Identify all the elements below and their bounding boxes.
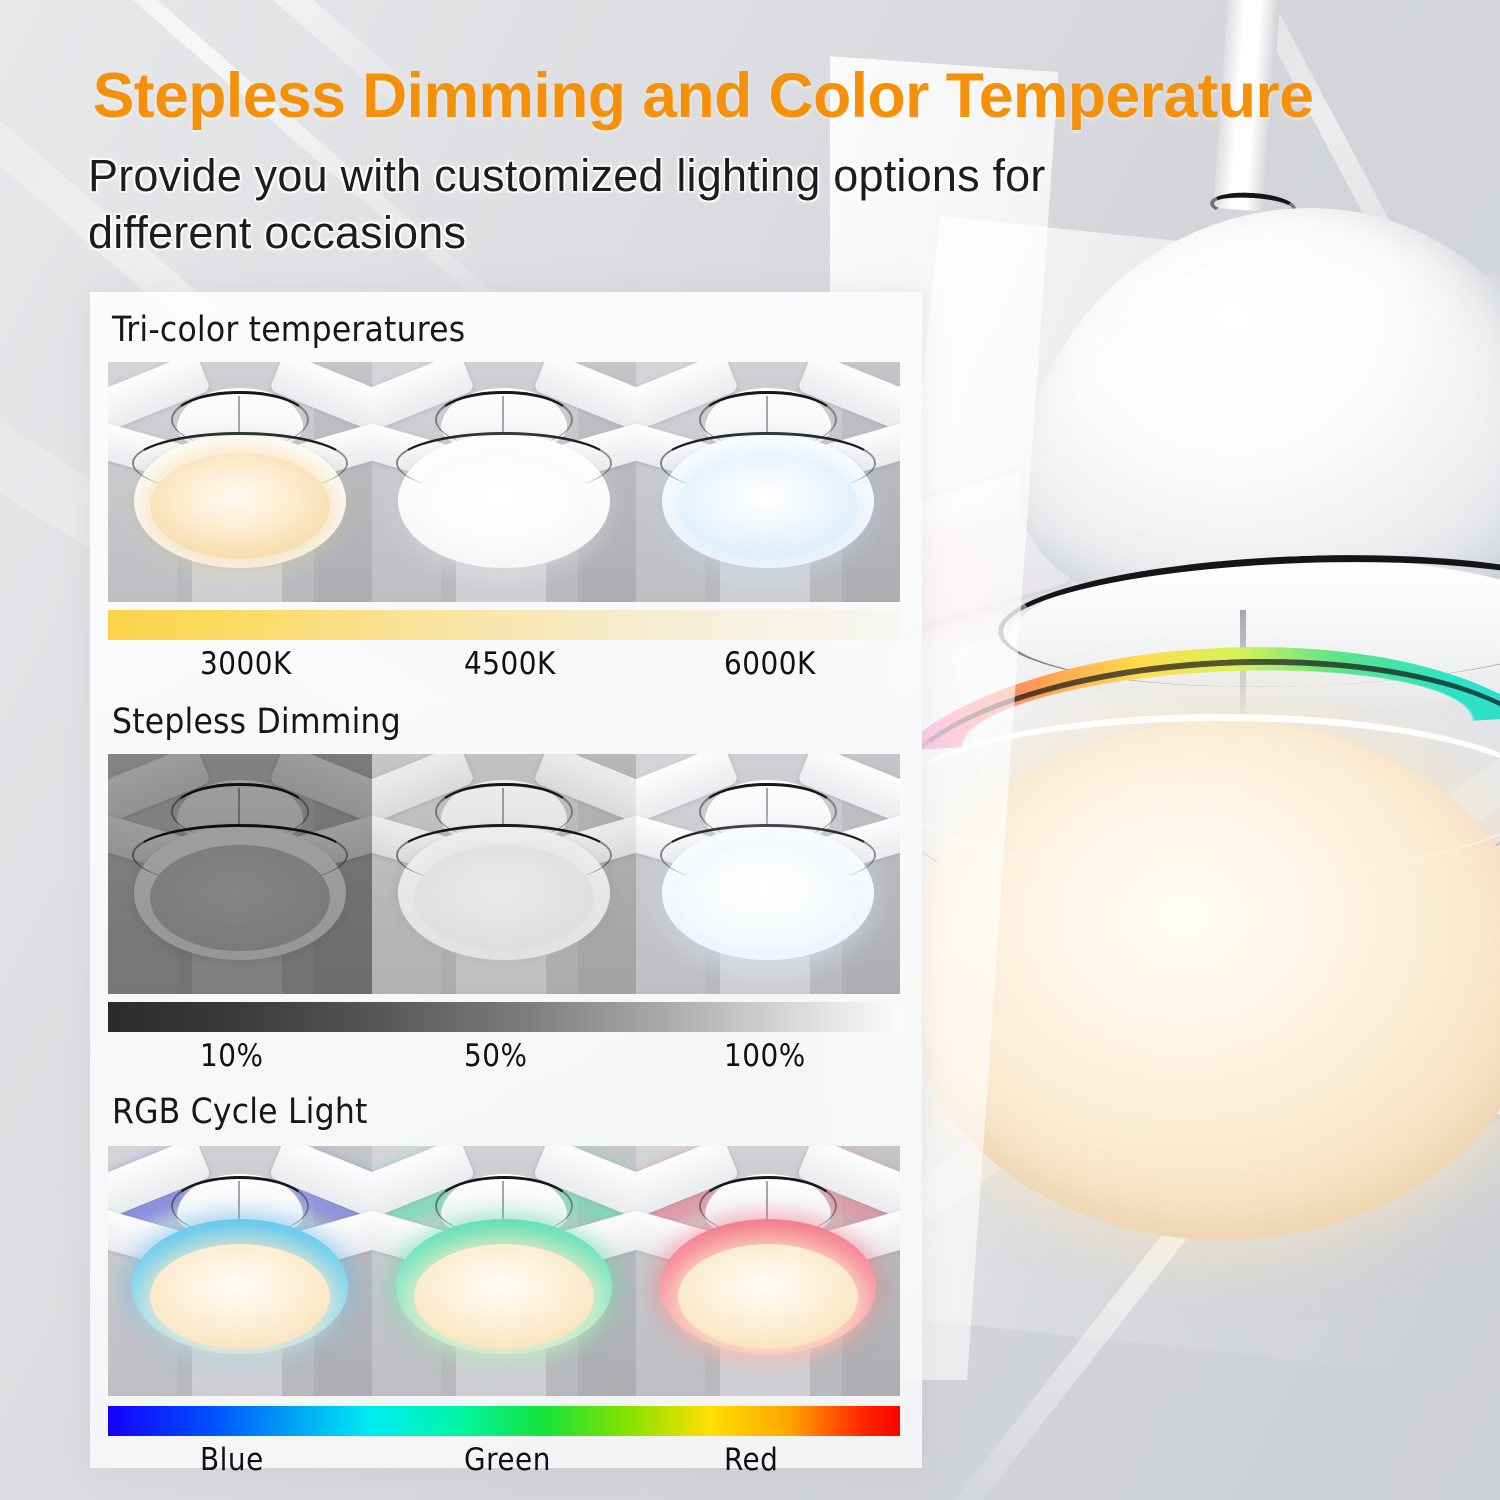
lamp-cell-4500k xyxy=(372,362,636,602)
lamp-lens xyxy=(150,453,330,559)
image-strip xyxy=(108,1146,900,1396)
lamp-cell-green xyxy=(372,1146,636,1396)
tick-label: 10% xyxy=(200,1038,264,1074)
tick-label: 6000K xyxy=(724,646,816,682)
section-title: Stepless Dimming xyxy=(112,702,922,742)
feature-card: Tri-color temperatures xyxy=(90,292,922,1468)
tick-label: Red xyxy=(724,1442,778,1478)
tick-label: 100% xyxy=(724,1038,806,1074)
dimming-gradient-bar xyxy=(108,1002,900,1032)
section-rgb-cycle-light: RGB Cycle Light xyxy=(90,1092,922,1132)
lamp-lens xyxy=(678,453,858,559)
lamp-cell-3000k xyxy=(108,362,372,602)
lamp-cell-6000k xyxy=(636,362,900,602)
section-title: Tri-color temperatures xyxy=(112,310,922,350)
lamp-cell-100-percent xyxy=(636,754,900,994)
tick-label: Blue xyxy=(200,1442,264,1478)
tick-label: 3000K xyxy=(200,646,292,682)
tick-label: 50% xyxy=(464,1038,528,1074)
tick-label: Green xyxy=(464,1442,551,1478)
lamp-cell-50-percent xyxy=(372,754,636,994)
page-subtitle: Provide you with customized lighting opt… xyxy=(88,148,1148,261)
lamp-lens xyxy=(414,845,594,951)
lamp-lens xyxy=(150,1244,330,1349)
rgb-gradient-bar xyxy=(108,1406,900,1436)
rgb-labels: Blue Green Red xyxy=(108,1438,900,1484)
page-title: Stepless Dimming and Color Temperature xyxy=(93,64,1420,128)
lamp-lens xyxy=(150,845,330,951)
tick-label: 4500K xyxy=(464,646,556,682)
image-strip xyxy=(108,362,900,602)
lamp-lens xyxy=(678,1244,858,1349)
lamp-cell-10-percent xyxy=(108,754,372,994)
image-strip xyxy=(108,754,900,994)
lamp-lens xyxy=(414,453,594,559)
lamp-lens xyxy=(414,1244,594,1349)
lamp-cell-blue xyxy=(108,1146,372,1396)
color-temperature-gradient-bar xyxy=(108,610,900,640)
section-stepless-dimming: Stepless Dimming xyxy=(90,702,922,742)
dimming-labels: 10% 50% 100% xyxy=(108,1034,900,1080)
section-tri-color-temperatures: Tri-color temperatures xyxy=(90,310,922,350)
lamp-lens xyxy=(678,845,858,951)
section-title: RGB Cycle Light xyxy=(112,1092,922,1132)
lamp-cell-red xyxy=(636,1146,900,1396)
color-temperature-labels: 3000K 4500K 6000K xyxy=(108,642,900,688)
